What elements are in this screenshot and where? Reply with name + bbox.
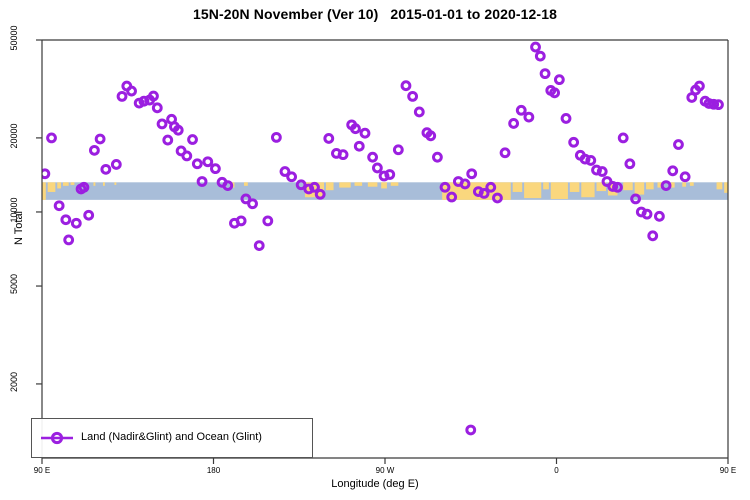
y-tick-label: 2000 (9, 362, 19, 402)
y-tick-label: 20000 (9, 116, 19, 156)
land-patch (570, 182, 580, 192)
land-patch (543, 182, 549, 189)
x-tick-label: 180 (191, 466, 237, 475)
land-patch (48, 182, 56, 192)
land-patch (717, 182, 723, 189)
legend-marker-icon (40, 430, 74, 446)
land-patch (244, 182, 248, 186)
land-patch (63, 182, 69, 186)
x-tick-label: 90 E (705, 466, 750, 475)
land-patch (57, 182, 61, 188)
y-tick-marks (36, 40, 42, 384)
legend-series-label: Land (Nadir&Glint) and Ocean (Glint) (81, 431, 262, 443)
x-axis-title: Longitude (deg E) (0, 478, 750, 490)
land-patch (93, 182, 95, 186)
land-patch (581, 182, 594, 197)
land-patch (646, 182, 654, 189)
land-patch (381, 182, 387, 188)
land-patch (355, 182, 363, 186)
land-patch (103, 182, 105, 186)
land-patch (524, 182, 541, 198)
land-patch (326, 182, 334, 190)
land-patch (391, 182, 399, 186)
x-tick-label: 90 W (362, 466, 408, 475)
land-patch (690, 182, 694, 186)
figure: 15N-20N November (Ver 10) 2015-01-01 to … (0, 0, 750, 500)
land-patch (513, 182, 523, 192)
land-patch (551, 182, 568, 199)
land-patch (682, 182, 686, 186)
y-tick-label: 50000 (9, 18, 19, 58)
y-axis-title: N Total (13, 183, 25, 273)
land-patch (339, 182, 350, 187)
x-tick-marks (42, 458, 750, 464)
land-patch (368, 182, 378, 186)
land-patch (623, 182, 633, 190)
land-patch (71, 182, 75, 185)
x-tick-label: 0 (534, 466, 580, 475)
land-patch (114, 182, 116, 185)
land-patch (635, 182, 645, 194)
surface-type-band (42, 182, 728, 200)
x-tick-label: 90 E (19, 466, 65, 475)
plot-background (42, 40, 728, 458)
